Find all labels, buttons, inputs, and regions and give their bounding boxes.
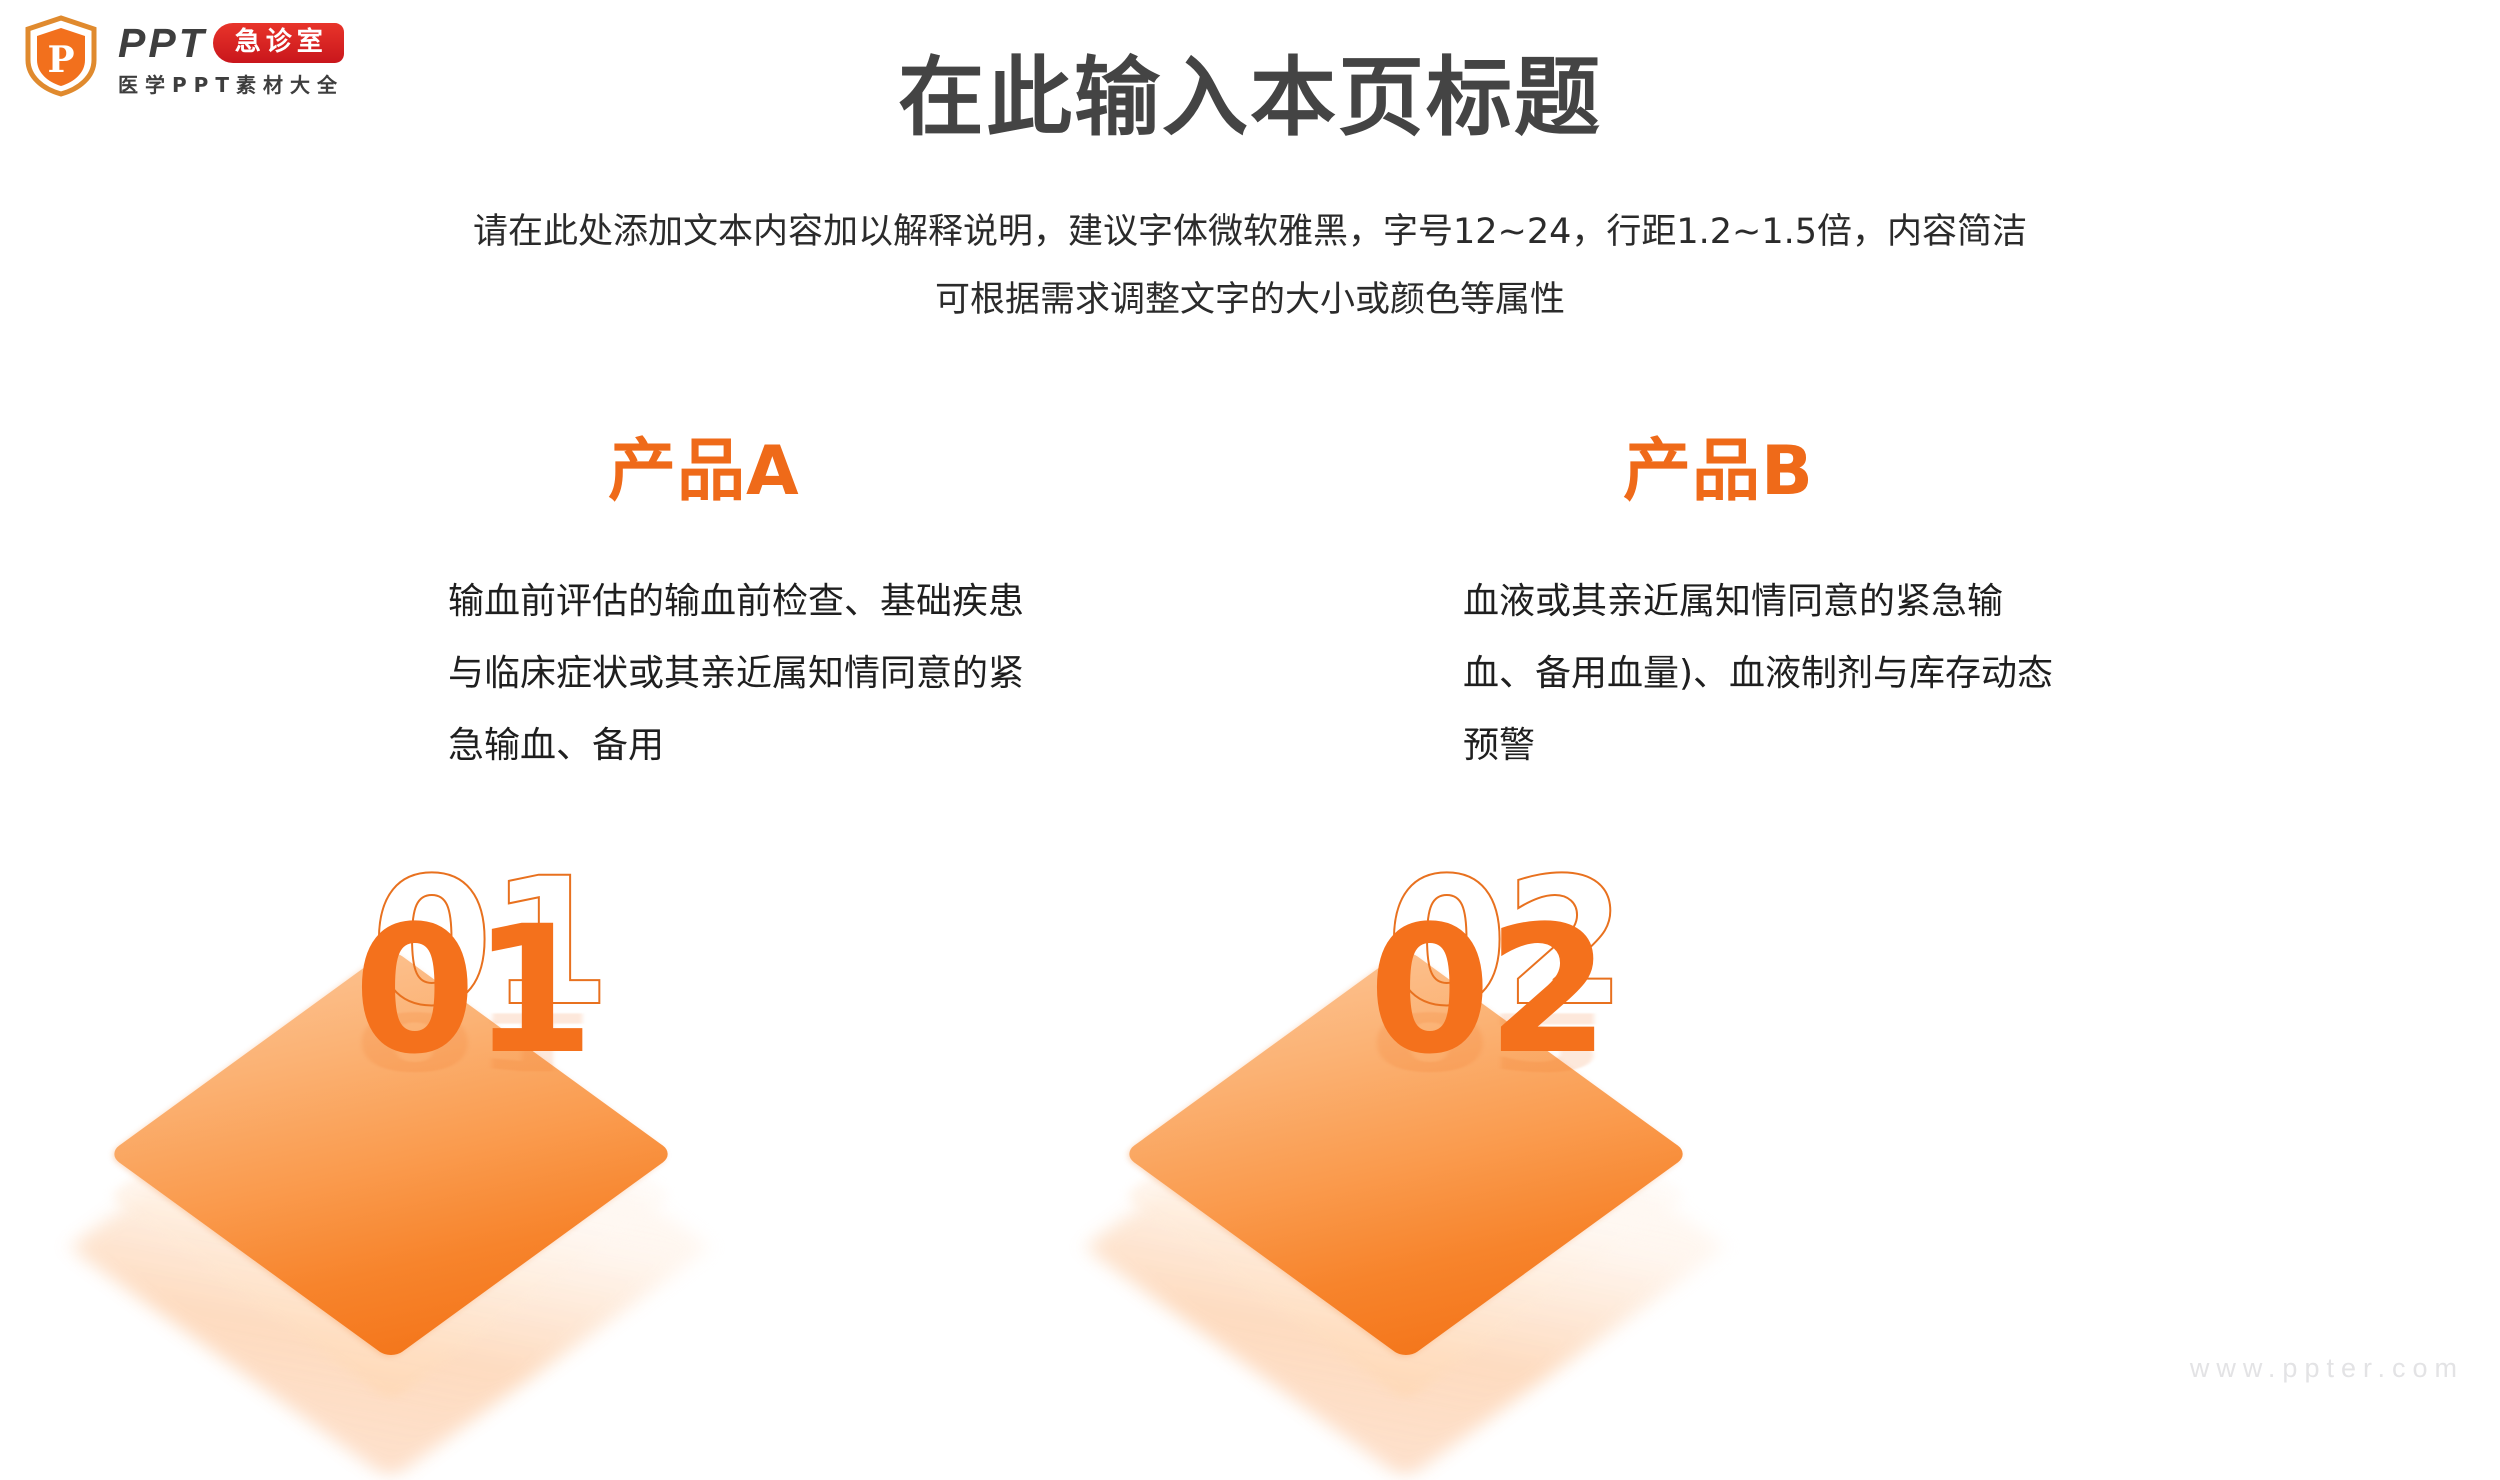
pedestal-number-02: 02 [1105, 903, 1845, 1079]
pedestal-number-01: 01 [90, 903, 830, 1079]
pedestal-graphic-02: 02 02 02 [1105, 855, 1845, 1325]
product-b-heading: 产品B [1155, 430, 2155, 514]
product-column-a: 产品A 输血前评估的输血前检查、基础疾患与临床症状或其亲近属知情同意的紧急输血、… [140, 430, 1140, 782]
page-subtitle-line-2: 可根据需求调整文字的大小或颜色等属性 [0, 266, 2500, 334]
page-subtitle-line-1: 请在此处添加文本内容加以解释说明，建议字体微软雅黑，字号12~24，行距1.2~… [0, 198, 2500, 266]
pedestal-graphic-01: 01 01 01 [90, 855, 830, 1325]
page-title: 在此输入本页标题 [0, 48, 2500, 148]
product-b-body: 血液或其亲近属知情同意的紧急输血、备用血量)、血液制剂与库存动态预警 [1155, 566, 2063, 782]
product-column-b: 产品B 血液或其亲近属知情同意的紧急输血、备用血量)、血液制剂与库存动态预警 [1155, 430, 2155, 782]
footer-watermark: www.ppter.com [2190, 1353, 2464, 1384]
product-a-body: 输血前评估的输血前检查、基础疾患与临床症状或其亲近属知情同意的紧急输血、备用 [140, 566, 1048, 782]
page-subtitle: 请在此处添加文本内容加以解释说明，建议字体微软雅黑，字号12~24，行距1.2~… [0, 198, 2500, 334]
product-a-heading: 产品A [140, 430, 1140, 514]
